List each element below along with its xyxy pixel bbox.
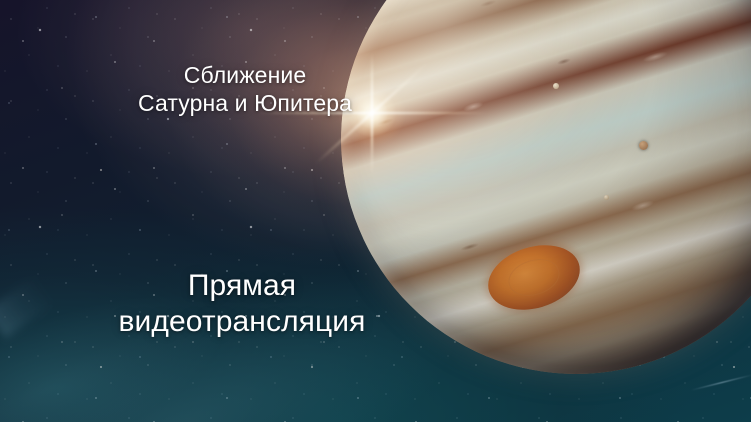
broadcast-caption: Прямая видеотрансляция <box>82 268 402 341</box>
jupiter-planet <box>341 0 751 374</box>
nebula-streak <box>0 276 54 339</box>
meteor-streak <box>691 374 751 390</box>
space-banner: Сближение Сатурна и Юпитера Прямая видео… <box>0 0 751 422</box>
headline-caption: Сближение Сатурна и Юпитера <box>100 62 390 118</box>
